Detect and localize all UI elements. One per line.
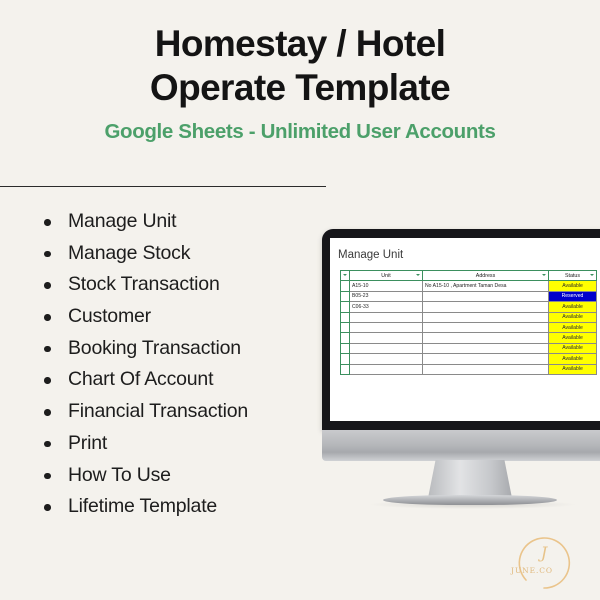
row-handle-cell[interactable]	[341, 343, 350, 353]
row-handle-cell[interactable]	[341, 312, 350, 322]
filter-caret-icon[interactable]	[542, 274, 546, 276]
table-row[interactable]: Available	[341, 343, 597, 353]
cell-address[interactable]	[423, 322, 549, 332]
monitor-screen: Manage Unit JUNE.C Unit Address	[330, 238, 600, 421]
row-handle-cell[interactable]	[341, 302, 350, 312]
table-row[interactable]: Available	[341, 364, 597, 374]
status-badge[interactable]: Available	[549, 312, 597, 322]
cell-address[interactable]	[423, 291, 549, 301]
logo-text: JUNE.CO	[501, 566, 563, 575]
status-badge[interactable]: Available	[549, 281, 597, 291]
monitor-base	[322, 430, 600, 461]
column-header-handle[interactable]	[341, 271, 350, 281]
row-handle-cell[interactable]	[341, 291, 350, 301]
cell-unit[interactable]	[350, 322, 423, 332]
row-handle-cell[interactable]	[341, 333, 350, 343]
unit-table: Unit Address Status	[340, 270, 597, 375]
list-item: Manage Unit	[40, 212, 340, 232]
cell-unit[interactable]: C06-33	[350, 302, 423, 312]
list-item: Lifetime Template	[40, 497, 340, 517]
status-badge[interactable]: Available	[549, 354, 597, 364]
cell-address[interactable]: No A15-10 , Apartment Taman Desa	[423, 281, 549, 291]
sheet-title: Manage Unit	[338, 249, 600, 261]
table-header-row: Unit Address Status	[341, 271, 597, 281]
cell-unit[interactable]	[350, 364, 423, 374]
status-badge[interactable]: Available	[549, 364, 597, 374]
status-badge[interactable]: Available	[549, 302, 597, 312]
table-row[interactable]: C06-33 Available	[341, 302, 597, 312]
header-block: Homestay / Hotel Operate Template Google…	[0, 0, 600, 144]
cell-address[interactable]	[423, 333, 549, 343]
status-badge[interactable]: Available	[549, 343, 597, 353]
brand-logo: J JUNE.CO	[513, 532, 575, 594]
table-row[interactable]: B05-23 Reserved	[341, 291, 597, 301]
filter-caret-icon[interactable]	[416, 274, 420, 276]
page-title: Homestay / Hotel Operate Template	[0, 22, 600, 109]
feature-list: Manage Unit Manage Stock Stock Transacti…	[40, 212, 340, 529]
cell-address[interactable]	[423, 354, 549, 364]
page-subtitle: Google Sheets - Unlimited User Accounts	[0, 120, 600, 144]
monitor-stand-neck	[428, 460, 512, 498]
table-header: Unit Address Status	[341, 271, 597, 281]
row-handle-cell[interactable]	[341, 354, 350, 364]
cell-unit[interactable]	[350, 312, 423, 322]
cell-unit[interactable]	[350, 354, 423, 364]
table-row[interactable]: Available	[341, 312, 597, 322]
table-row[interactable]: Available	[341, 333, 597, 343]
table-row[interactable]: Available	[341, 354, 597, 364]
filter-caret-icon[interactable]	[343, 274, 347, 276]
table-row[interactable]: A15-10 No A15-10 , Apartment Taman Desa …	[341, 281, 597, 291]
filter-caret-icon[interactable]	[590, 274, 594, 276]
status-badge[interactable]: Available	[549, 322, 597, 332]
monitor-stand-foot	[383, 495, 557, 505]
row-handle-cell[interactable]	[341, 364, 350, 374]
column-header-status[interactable]: Status	[549, 271, 597, 281]
column-header-unit-label: Unit	[381, 273, 390, 279]
list-item: Print	[40, 434, 340, 454]
column-header-unit[interactable]: Unit	[350, 271, 423, 281]
row-handle-cell[interactable]	[341, 281, 350, 291]
list-item: Chart Of Account	[40, 370, 340, 390]
title-line-2: Operate Template	[0, 66, 600, 110]
cell-unit[interactable]: A15-10	[350, 281, 423, 291]
list-item: Stock Transaction	[40, 275, 340, 295]
cell-address[interactable]	[423, 312, 549, 322]
status-badge[interactable]: Reserved	[549, 291, 597, 301]
cell-unit[interactable]: B05-23	[350, 291, 423, 301]
cell-address[interactable]	[423, 302, 549, 312]
list-item: Customer	[40, 307, 340, 327]
monitor-mockup: Manage Unit JUNE.C Unit Address	[322, 229, 600, 430]
spreadsheet: Manage Unit JUNE.C Unit Address	[330, 238, 600, 421]
cell-unit[interactable]	[350, 333, 423, 343]
list-item: Financial Transaction	[40, 402, 340, 422]
table-body: A15-10 No A15-10 , Apartment Taman Desa …	[341, 281, 597, 375]
list-item: Booking Transaction	[40, 339, 340, 359]
header-divider	[0, 186, 326, 187]
title-line-1: Homestay / Hotel	[0, 22, 600, 66]
column-header-status-label: Status	[565, 273, 580, 279]
list-item: How To Use	[40, 466, 340, 486]
status-badge[interactable]: Available	[549, 333, 597, 343]
row-handle-cell[interactable]	[341, 322, 350, 332]
table-row[interactable]: Available	[341, 322, 597, 332]
column-header-address[interactable]: Address	[423, 271, 549, 281]
cell-address[interactable]	[423, 343, 549, 353]
cell-address[interactable]	[423, 364, 549, 374]
cell-unit[interactable]	[350, 343, 423, 353]
column-header-address-label: Address	[476, 273, 495, 279]
list-item: Manage Stock	[40, 244, 340, 264]
